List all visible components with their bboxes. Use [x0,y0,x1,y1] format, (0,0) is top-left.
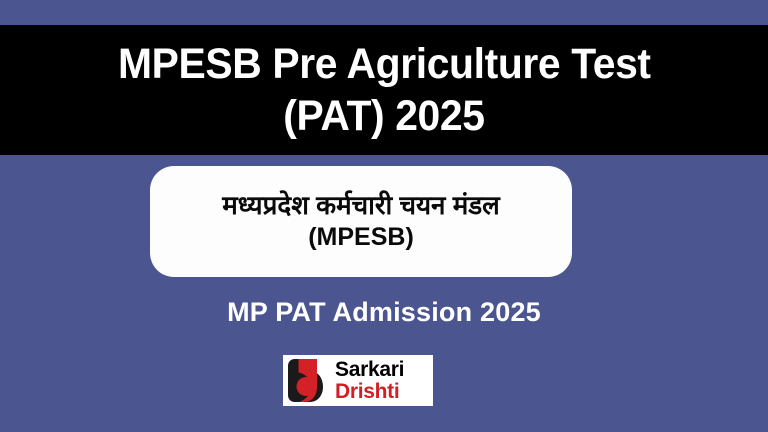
logo-wordmark: Sarkari Drishti [335,359,404,402]
subtitle-text: MP PAT Admission 2025 [0,296,768,328]
logo-word-drishti: Drishti [335,381,404,402]
organization-name-hindi: मध्यप्रदेश कर्मचारी चयन मंडल [222,191,500,221]
title-line-2: (PAT) 2025 [283,90,484,142]
organization-card: मध्यप्रदेश कर्मचारी चयन मंडल (MPESB) [150,166,572,277]
sarkari-drishti-eye-icon [287,358,333,403]
title-line-1: MPESB Pre Agriculture Test [118,38,651,90]
title-banner: MPESB Pre Agriculture Test (PAT) 2025 [0,25,768,155]
site-logo: Sarkari Drishti [283,355,433,406]
poster-canvas: MPESB Pre Agriculture Test (PAT) 2025 मध… [0,0,768,432]
logo-word-sarkari: Sarkari [335,359,404,380]
organization-abbreviation: (MPESB) [308,222,414,252]
